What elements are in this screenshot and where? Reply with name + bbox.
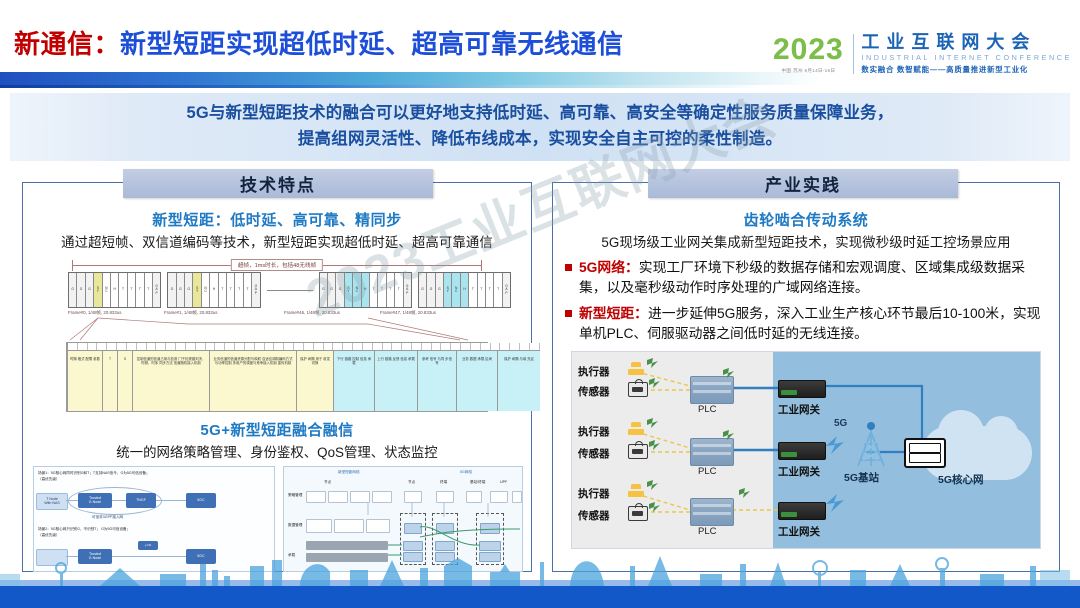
scenario-2-caption: 场景2：5G核心网只识别G，不识别T； G为5G可信设备； (38, 527, 130, 531)
plc-icon-1 (690, 376, 734, 404)
gateway-icon-3 (778, 502, 826, 520)
right-sub-desc: 5G现场级工业网关集成新型短距技术，实现微秒级时延工控场景应用 (553, 231, 1059, 251)
left-sub-title: 新型短距：低时延、高可靠、精同步 (23, 209, 531, 230)
slide-root: 新通信：新型短距实现超低时延、超高可靠无线通信 2023 中国·苏州 8月14日… (0, 0, 1080, 608)
table-cell-9: 业务 数据 承载 区间 (457, 351, 498, 411)
scenario-2-caption-b: （高优先级） (38, 533, 60, 537)
sensor-icon-2 (628, 444, 648, 459)
page-title-prefix: 新通信： (14, 29, 120, 59)
sparklink-icon-5 (648, 440, 661, 451)
sensor-icon-1 (628, 382, 648, 397)
gateway-icon-2 (778, 442, 826, 460)
sparklink-icon-3 (722, 368, 735, 379)
conference-logo: 2023 中国·苏州 8月14日-16日 工业互联网大会 INDUSTRIAL … (772, 28, 1072, 80)
label-gateway-1: 工业网关 (778, 402, 820, 417)
table-tick-header (68, 343, 540, 351)
panel-technical-features: 技术特点 新型短距：低时延、高可靠、精同步 通过超短帧、双信道编码等技术，新型短… (22, 182, 532, 572)
bullet-body-2: 进一步延伸5G服务，深入工业生产核心环节最后10-100米，实现单机PLC、伺服… (579, 306, 1040, 341)
label-5g-link: 5G (834, 418, 847, 429)
logo-name-cn: 工业互联网大会 (861, 33, 1072, 52)
label-gateway-3: 工业网关 (778, 524, 820, 539)
logo-year: 2023 (772, 35, 845, 65)
sparklink-icon-9 (738, 488, 751, 499)
bullet-text-1: 5G网络：实现工厂环境下秒级的数据存储和宏观调度、区域集成级数据采集，以及毫秒级… (579, 258, 1049, 297)
label-plc-2: PLC (698, 466, 716, 477)
bullet-label-2: 新型短距： (579, 306, 648, 321)
bullet-label-1: 5G网络： (579, 260, 639, 275)
table-cell-7: 上行 链路 反馈 信息 承载 (375, 351, 418, 411)
fusion-title: 5G+新型短距融合融信 (23, 419, 531, 440)
node-t-1: T Node With NAS (36, 493, 68, 510)
core-network-server-icon (904, 438, 946, 468)
sparklink-icon-7 (646, 480, 659, 491)
label-plc-3: PLC (698, 526, 716, 537)
label-sensor-1: 传感器 (578, 384, 610, 399)
actuator-icon-1 (628, 362, 644, 376)
wireless-bolt-icon-2 (824, 492, 846, 519)
table-body: 时隙 格式 配置 参数 T S 控制信道的信道占用与检测 门干扰规避判决，时频、… (68, 351, 540, 411)
logo-tagline: 数实融合 数智赋能——高质量推进新型工业化 (861, 64, 1072, 75)
actuator-icon-2 (628, 422, 644, 436)
logo-year-block: 2023 中国·苏州 8月14日-16日 (772, 35, 845, 74)
fusion-desc: 统一的网络策略管理、身份鉴权、QoS管理、状态监控 (23, 441, 531, 461)
banner-line-2: 提高组网灵活性、降低布线成本，实现安全自主可控的柔性制造。 (298, 127, 782, 153)
label-sensor-3: 传感器 (578, 508, 610, 523)
frame-block-47: GGG SYNCH TTTT GAP (418, 272, 511, 308)
slide-header: 新通信：新型短距实现超低时延、超高可靠无线通信 2023 中国·苏州 8月14日… (0, 0, 1080, 88)
banner-line-1: 5G与新型短距技术的融合可以更好地支持低时延、高可靠、高安全等确定性服务质量保障… (186, 101, 893, 127)
bullet-text-2: 新型短距：进一步延伸5G服务，深入工业生产核心环节最后10-100米，实现单机P… (579, 304, 1049, 343)
frame-caption: 超帧，1ms时长，包括48无线帧 (231, 259, 323, 271)
table-cell-3: 控制信道的信道占用与检测 门干扰规避判决，时频、时序 同步方法 信道随机接入机制 (133, 351, 210, 411)
table-cell-0: 时隙 格式 配置 参数 (68, 351, 103, 411)
bullet-square-icon (565, 310, 572, 317)
table-cell-6: 下行 链路 控制 信息 承载 (334, 351, 375, 411)
sensor-icon-3 (628, 506, 648, 521)
label-core-network: 5G核心网 (938, 472, 984, 487)
panel-header-right-label: 产业实践 (765, 171, 841, 196)
wireless-bolt-icon-1 (824, 434, 846, 461)
node-tngf-1: TNGF (126, 493, 156, 508)
panel-header-left: 技术特点 (123, 169, 433, 198)
label-actuator-3: 执行器 (578, 486, 610, 501)
frame-ellipsis (267, 272, 313, 308)
right-sub-title: 齿轮啮合传动系统 (553, 209, 1059, 230)
sparklink-icon-1 (646, 358, 659, 369)
table-cell-5: 保护 间隔 用于 收发 切换 (297, 351, 334, 411)
panel-header-right: 产业实践 (648, 169, 958, 198)
sparklink-icon-6 (722, 430, 735, 441)
left-sub-desc: 通过超短帧、双信道编码等技术，新型短距实现超低时延、超高可靠通信 (23, 231, 531, 251)
scenario-1-caption-b: （高优先级） (38, 477, 60, 481)
node-5gc-1: 5GC (186, 493, 216, 508)
table-cell-4: 业务信道的信道资源分配与映射 自适应调制编码方式与功率控制 多用户的调度与竞争接… (210, 351, 297, 411)
page-title: 新通信：新型短距实现超低时延、超高可靠无线通信 (14, 24, 624, 61)
bullet-item-1: 5G网络：实现工厂环境下秒级的数据存储和宏观调度、区域集成级数据采集，以及毫秒级… (565, 258, 1049, 297)
frame-structure-diagram: 超帧，1ms时长，包括48无线帧 GGG SYNCH TTTT GAP GGG … (68, 259, 486, 342)
frame-block-0: GGG SYNCH TTTT GAP (68, 272, 161, 308)
plc-icon-3 (690, 498, 734, 526)
network-topology-diagram: 执行器 传感器 PLC 工业网关 执行器 传感器 (571, 351, 1041, 549)
skyline-decoration (0, 546, 1080, 608)
label-sensor-2: 传感器 (578, 446, 610, 461)
sparklink-icon-8 (648, 502, 661, 513)
label-gateway-2: 工业网关 (778, 464, 820, 479)
label-plc-1: PLC (698, 404, 716, 415)
frame-block-1: GGG SYNCH TTTT GAP (167, 272, 260, 308)
summary-banner: 5G与新型短距技术的融合可以更好地支持低时延、高可靠、高安全等确定性服务质量保障… (10, 93, 1070, 161)
table-main: 时隙 格式 配置 参数 T S 控制信道的信道占用与检测 门干扰规避判决，时频、… (68, 343, 540, 411)
table-cell-8: 参考 信号 与同 步信 号 (418, 351, 457, 411)
actuator-icon-3 (628, 484, 644, 498)
node-g-1: Trusted G Node (78, 493, 112, 508)
panel-header-left-label: 技术特点 (240, 171, 316, 196)
logo-name-en: INDUSTRIAL INTERNET CONFERENCE (861, 53, 1072, 62)
frame-block-46: GGG SYNCH TTTT GAP (319, 272, 412, 308)
plc-icon-2 (690, 438, 734, 466)
logo-year-subtitle: 中国·苏州 8月14日-16日 (772, 68, 845, 74)
logo-divider (853, 34, 854, 74)
sparklink-icon-2 (648, 378, 661, 389)
header-rule (0, 72, 820, 85)
base-station-icon (854, 422, 888, 468)
panel-industry-practice: 产业实践 齿轮啮合传动系统 5G现场级工业网关集成新型短距技术，实现微秒级时延工… (552, 182, 1060, 572)
bullet-item-2: 新型短距：进一步延伸5G服务，深入工业生产核心环节最后10-100米，实现单机P… (565, 304, 1049, 343)
header-rule-secondary (0, 85, 760, 88)
trusted-access-label-1: 可信非3GPP接入网 (92, 515, 123, 520)
table-cell-1: T (103, 351, 118, 411)
table-cell-10: 保护 间隔 与填 充区 (498, 351, 540, 411)
sparklink-icon-4 (646, 418, 659, 429)
bullet-body-1: 实现工厂环境下秒级的数据存储和宏观调度、区域集成级数据采集，以及毫秒级动作时序处… (579, 260, 1025, 295)
table-cell-2: S (118, 351, 133, 411)
frame-blocks-row: GGG SYNCH TTTT GAP GGG SYNCH TTTT GAP GG… (68, 272, 486, 308)
frame-leader-lines (68, 316, 486, 342)
scenario-1-caption: 场景1：5G核心网同时识别G和T；T支持NAS信令，G为5G可信设备； (38, 471, 150, 475)
logo-name-block: 工业互联网大会 INDUSTRIAL INTERNET CONFERENCE 数… (861, 33, 1072, 75)
slot-format-table: 时隙 格式 配置 参数 T S 控制信道的信道占用与检测 门干扰规避判决，时频、… (66, 342, 488, 412)
label-base-station: 5G基站 (844, 470, 879, 485)
bullet-square-icon (565, 264, 572, 271)
label-actuator-2: 执行器 (578, 424, 610, 439)
label-actuator-1: 执行器 (578, 364, 610, 379)
page-title-main: 新型短距实现超低时延、超高可靠无线通信 (120, 29, 624, 59)
gateway-icon-1 (778, 380, 826, 398)
